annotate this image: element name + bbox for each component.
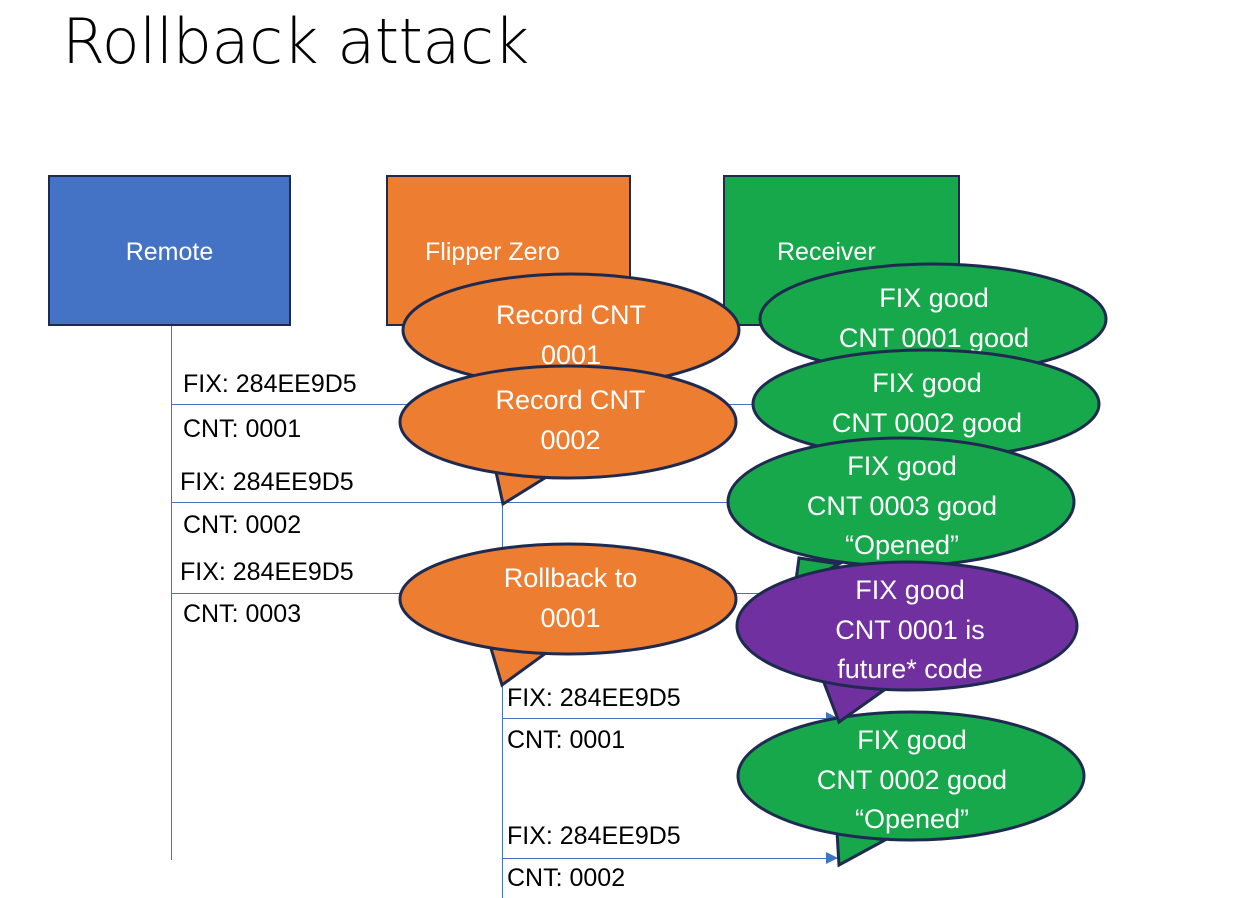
- callout-receiver-cnt-0002-opened[interactable]: FIX good CNT 0002 good “Opened”: [737, 710, 1087, 875]
- message-3-cnt: CNT: 0003: [183, 602, 301, 627]
- actor-label-flipper: Flipper Zero: [388, 239, 629, 267]
- bubble-shape-record-0002: [400, 366, 736, 504]
- message-1-cnt: CNT: 0001: [183, 417, 301, 442]
- message-5-cnt: CNT: 0002: [507, 866, 625, 891]
- actor-label-remote: Remote: [50, 239, 289, 267]
- page-title: Rollback attack: [62, 8, 529, 76]
- callout-flipper-rollback-0001[interactable]: Rollback to 0001: [398, 543, 743, 693]
- callout-receiver-cnt-0001-future[interactable]: FIX good CNT 0001 is future* code: [735, 560, 1085, 730]
- bubble-shape-rollback-0001: [400, 544, 736, 685]
- message-1-fix: FIX: 284EE9D5: [183, 372, 357, 397]
- slide-canvas: Rollback attack Remote Flipper Zero Rece…: [0, 0, 1233, 898]
- bubble-shape-cnt-0001-future: [737, 562, 1077, 722]
- actor-box-remote[interactable]: Remote: [48, 175, 291, 326]
- message-2-cnt: CNT: 0002: [183, 513, 301, 538]
- message-3-fix: FIX: 284EE9D5: [180, 560, 354, 585]
- callout-flipper-record-0002[interactable]: Record CNT 0002: [398, 364, 743, 509]
- bubble-shape-cnt-0002-opened: [738, 712, 1084, 865]
- message-2-fix: FIX: 284EE9D5: [180, 470, 354, 495]
- message-4-cnt: CNT: 0001: [507, 728, 625, 753]
- message-5-fix: FIX: 284EE9D5: [507, 824, 681, 849]
